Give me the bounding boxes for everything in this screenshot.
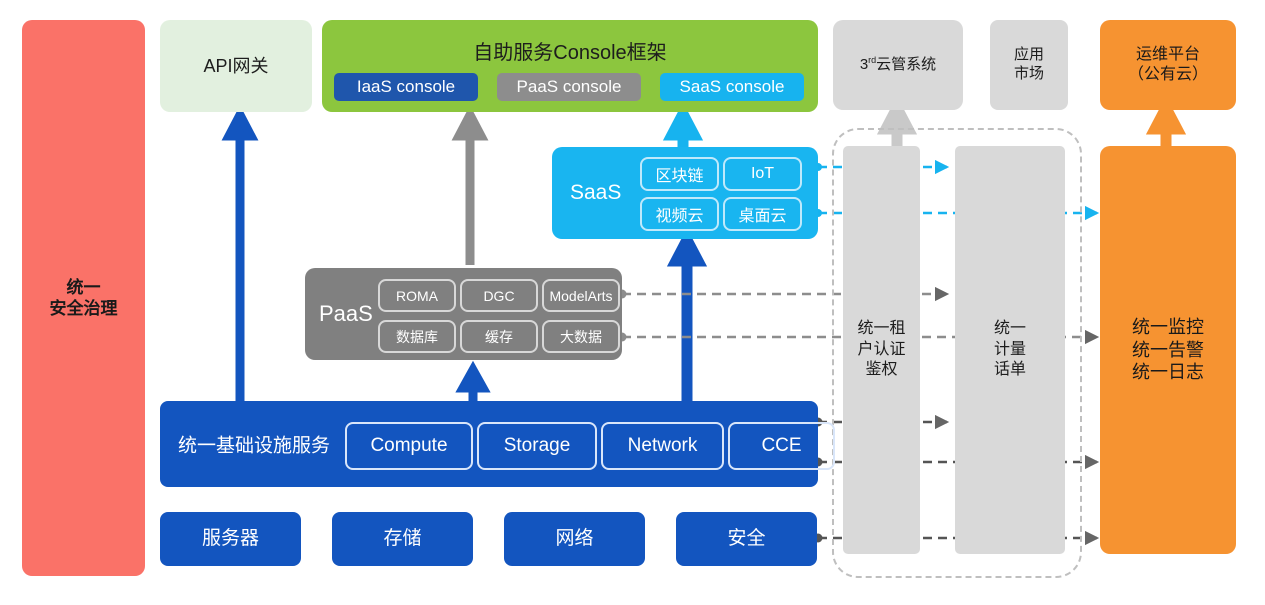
infra-item-storage[interactable]: Storage bbox=[477, 422, 597, 470]
saas-console-chip[interactable]: SaaS console bbox=[660, 73, 804, 101]
arrow-saas-to-saas-console bbox=[672, 114, 694, 147]
saas-item-desktop-cloud-label: 桌面云 bbox=[738, 202, 786, 226]
paas-console-label: PaaS console bbox=[517, 77, 622, 97]
api-gateway-box[interactable]: API网关 bbox=[160, 20, 312, 112]
unified-tenant-auth-line2: 户认证 bbox=[857, 340, 905, 361]
unified-tenant-auth-column[interactable]: 统一租 户认证 鉴权 bbox=[843, 146, 920, 554]
app-market-box[interactable]: 应用 市场 bbox=[990, 20, 1068, 110]
paas-layer-label: PaaS bbox=[319, 301, 373, 327]
ops-platform-public-line1: 运维平台 bbox=[1136, 45, 1200, 65]
saas-layer-box[interactable]: SaaS 区块链 IoT 视频云 桌面云 bbox=[552, 147, 818, 239]
paas-item-cache[interactable]: 缓存 bbox=[460, 320, 538, 353]
unified-ops-line2: 统一告警 bbox=[1132, 339, 1204, 362]
paas-item-database-label: 数据库 bbox=[396, 327, 438, 347]
unified-tenant-auth-line3: 鉴权 bbox=[865, 360, 897, 381]
unified-infrastructure-label: 统一基础设施服务 bbox=[178, 431, 330, 458]
hardware-network-label: 网络 bbox=[555, 527, 593, 551]
saas-item-iot-label: IoT bbox=[751, 165, 774, 183]
arrow-paas-to-console bbox=[459, 115, 481, 265]
console-framework-box[interactable]: 自助服务Console框架 IaaS console PaaS console … bbox=[322, 20, 818, 112]
security-governance-pillar[interactable]: 统一 安全治理 bbox=[22, 20, 145, 576]
paas-layer-box[interactable]: PaaS ROMA DGC ModelArts 数据库 缓存 大数据 bbox=[305, 268, 622, 360]
hardware-storage-label: 存储 bbox=[383, 527, 421, 551]
saas-item-video-cloud[interactable]: 视频云 bbox=[640, 197, 719, 231]
third-party-prefix: 3 bbox=[860, 56, 868, 73]
api-gateway-label: API网关 bbox=[203, 55, 268, 78]
app-market-line2: 市场 bbox=[1014, 65, 1044, 84]
third-party-suffix: 云管系统 bbox=[876, 56, 936, 73]
infra-item-compute[interactable]: Compute bbox=[345, 422, 473, 470]
saas-item-blockchain-label: 区块链 bbox=[655, 162, 703, 186]
paas-item-cache-label: 缓存 bbox=[485, 327, 513, 347]
paas-item-database[interactable]: 数据库 bbox=[378, 320, 456, 353]
unified-metering-line2: 计量 bbox=[994, 340, 1026, 361]
paas-item-dgc[interactable]: DGC bbox=[460, 279, 538, 312]
architecture-diagram: 统一 安全治理 API网关 自助服务Console框架 IaaS console… bbox=[0, 0, 1265, 605]
arrow-infra-to-apigw bbox=[229, 115, 251, 418]
iaas-console-label: IaaS console bbox=[357, 77, 455, 97]
infra-item-cce[interactable]: CCE bbox=[728, 422, 835, 470]
hardware-network-box[interactable]: 网络 bbox=[504, 512, 645, 566]
third-party-cloud-mgmt-box[interactable]: 3rd云管系统 bbox=[833, 20, 963, 110]
saas-layer-label: SaaS bbox=[570, 181, 621, 205]
paas-item-modelarts[interactable]: ModelArts bbox=[542, 279, 620, 312]
paas-item-modelarts-label: ModelArts bbox=[549, 288, 612, 304]
unified-ops-line1: 统一监控 bbox=[1132, 316, 1204, 339]
paas-item-roma[interactable]: ROMA bbox=[378, 279, 456, 312]
unified-infrastructure-bar[interactable]: 统一基础设施服务 Compute Storage Network CCE bbox=[160, 401, 818, 487]
console-framework-title: 自助服务Console框架 bbox=[322, 36, 818, 65]
ops-platform-public-line2: （公有云） bbox=[1128, 65, 1208, 85]
hardware-server-box[interactable]: 服务器 bbox=[160, 512, 301, 566]
unified-metering-line1: 统一 bbox=[994, 319, 1026, 340]
third-party-cloud-mgmt-label: 3rd云管系统 bbox=[860, 55, 936, 75]
security-governance-line1: 统一 bbox=[67, 277, 101, 298]
unified-ops-line3: 统一日志 bbox=[1132, 361, 1204, 384]
paas-item-bigdata-label: 大数据 bbox=[560, 327, 602, 347]
paas-item-dgc-label: DGC bbox=[483, 288, 514, 304]
saas-console-label: SaaS console bbox=[680, 77, 785, 97]
paas-item-roma-label: ROMA bbox=[396, 288, 438, 304]
hardware-security-box[interactable]: 安全 bbox=[676, 512, 817, 566]
infra-item-compute-label: Compute bbox=[370, 435, 447, 457]
saas-item-iot[interactable]: IoT bbox=[723, 157, 802, 191]
unified-metering-line3: 话单 bbox=[994, 360, 1026, 381]
arrow-ops-top-up bbox=[1155, 108, 1177, 148]
third-party-sup: rd bbox=[868, 55, 876, 65]
saas-item-blockchain[interactable]: 区块链 bbox=[640, 157, 719, 191]
unified-ops-column[interactable]: 统一监控 统一告警 统一日志 bbox=[1100, 146, 1236, 554]
security-governance-line2: 安全治理 bbox=[50, 298, 118, 319]
saas-item-desktop-cloud[interactable]: 桌面云 bbox=[723, 197, 802, 231]
hardware-security-label: 安全 bbox=[727, 527, 765, 551]
infra-item-network[interactable]: Network bbox=[601, 422, 724, 470]
hardware-server-label: 服务器 bbox=[202, 527, 259, 551]
iaas-console-chip[interactable]: IaaS console bbox=[334, 73, 478, 101]
unified-tenant-auth-line1: 统一租 bbox=[857, 319, 905, 340]
saas-item-video-cloud-label: 视频云 bbox=[655, 202, 703, 226]
infra-item-storage-label: Storage bbox=[504, 435, 571, 457]
infra-item-network-label: Network bbox=[628, 435, 698, 457]
infra-item-cce-label: CCE bbox=[761, 435, 801, 457]
ops-platform-public-cloud-box[interactable]: 运维平台 （公有云） bbox=[1100, 20, 1236, 110]
paas-console-chip[interactable]: PaaS console bbox=[497, 73, 641, 101]
paas-item-bigdata[interactable]: 大数据 bbox=[542, 320, 620, 353]
unified-metering-billing-column[interactable]: 统一 计量 话单 bbox=[955, 146, 1065, 554]
hardware-storage-box[interactable]: 存储 bbox=[332, 512, 473, 566]
app-market-line1: 应用 bbox=[1014, 46, 1044, 65]
arrow-infra-to-saas bbox=[676, 240, 698, 408]
